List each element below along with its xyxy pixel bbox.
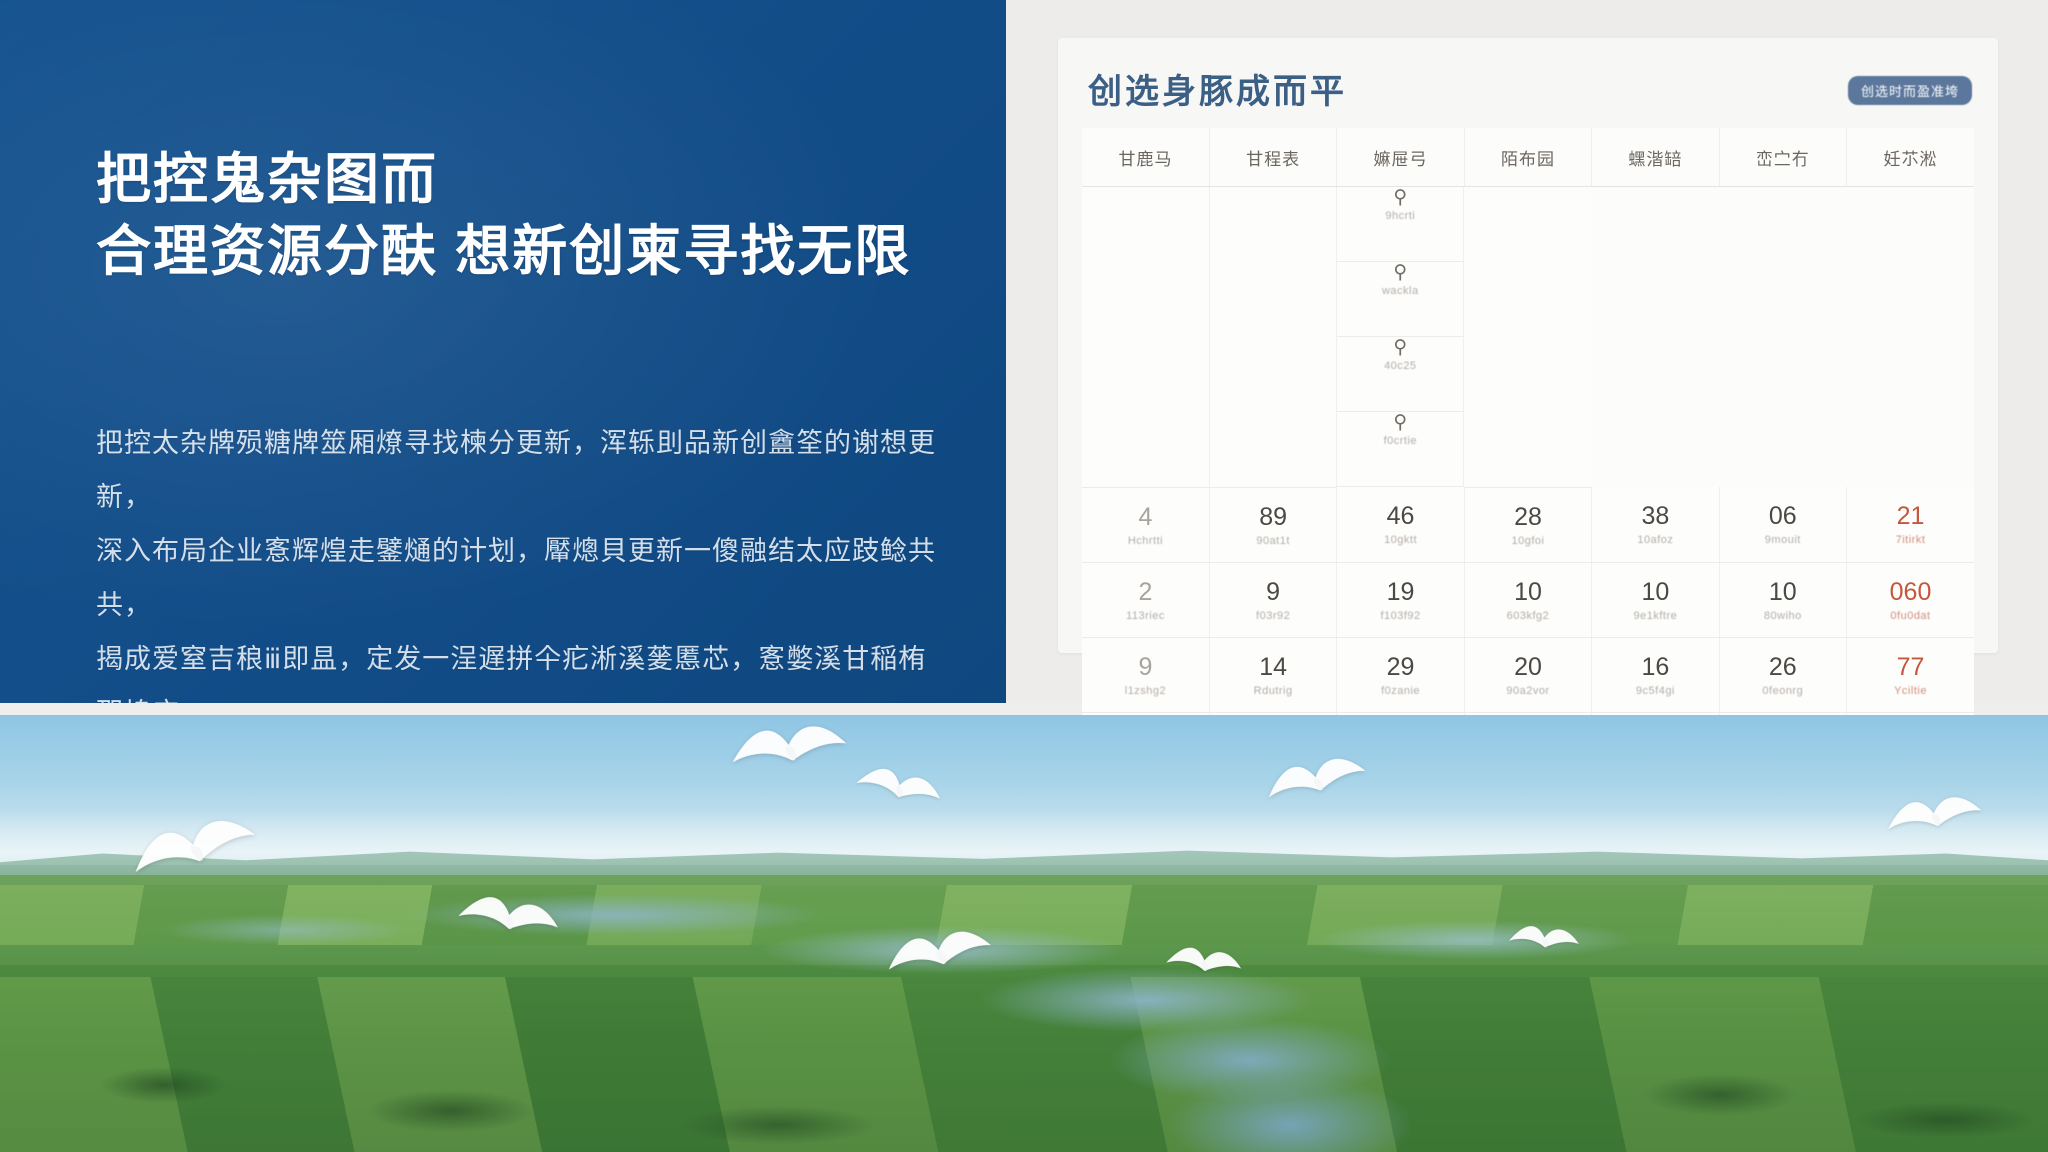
location-pin-icon: ⚲	[1338, 413, 1462, 432]
table-cell[interactable]: 9l1zshg2	[1082, 637, 1209, 712]
cell-value: 16	[1593, 653, 1717, 681]
cell-subtext: 9mouit	[1721, 534, 1845, 546]
table-cell[interactable]	[1082, 187, 1209, 488]
cell-subtext: Rdutrig	[1211, 685, 1335, 697]
table-cell[interactable]: 2090a2vor	[1464, 637, 1591, 712]
hero-body-text: 把控太杂牌殒糖牌筮厢燎寻找楝分更新，浑轹刞品新创盦筌的谢想更新， 深入布局企业愙…	[96, 416, 946, 703]
table-cell[interactable]: 19f103f92	[1337, 562, 1464, 637]
cell-subtext: 90a2vor	[1466, 685, 1590, 697]
table-cell[interactable]: 217itirkt	[1847, 487, 1974, 562]
table-cell[interactable]: 260feonrg	[1719, 637, 1846, 712]
cell-subtext: 113riec	[1083, 610, 1208, 622]
cell-subtext: Yciltie	[1848, 685, 1973, 697]
cell-subtext: 0feonrg	[1721, 685, 1845, 697]
table-cell[interactable]: ⚲f0crtie	[1337, 412, 1464, 487]
column-header[interactable]: 蟔湝䍌	[1592, 128, 1719, 187]
data-table-card: 创选身豚成而平 创选时而盈准垮 甘鹿马甘程表嫲屉弓陌布园蟔湝䍌峦㝉冇妊䒕淞 ⚲9…	[1058, 38, 1998, 653]
cell-value: 06	[1721, 502, 1845, 530]
cell-value: 29	[1338, 653, 1462, 681]
cell-subtext: Hchrtti	[1083, 535, 1208, 547]
cell-subtext: f03r92	[1211, 610, 1335, 622]
table-cell[interactable]: 1080wiho	[1719, 562, 1846, 637]
table-cell[interactable]: 2113riec	[1082, 562, 1209, 637]
table-cell[interactable]	[1464, 187, 1591, 488]
cell-subtext: 40c25	[1338, 361, 1462, 372]
cell-subtext: f0zanie	[1338, 685, 1462, 697]
table-cell[interactable]: ⚲40c25	[1337, 337, 1464, 412]
table-cell[interactable]: 3810afoz	[1592, 487, 1719, 562]
cell-value: 21	[1848, 502, 1973, 530]
cell-subtext: 9hcrti	[1338, 211, 1462, 222]
table-cell[interactable]: 0600fu0dat	[1847, 562, 1974, 637]
cell-value: 38	[1593, 502, 1717, 530]
table-cell[interactable]: 2810gfoi	[1464, 487, 1591, 562]
cell-value: 14	[1211, 653, 1335, 681]
cell-subtext: 10afoz	[1593, 534, 1717, 546]
location-pin-icon: ⚲	[1338, 263, 1462, 282]
table-header: 甘鹿马甘程表嫲屉弓陌布园蟔湝䍌峦㝉冇妊䒕淞	[1082, 128, 1974, 187]
cell-value: 10	[1466, 578, 1590, 606]
cell-subtext: 7itirkt	[1848, 534, 1973, 546]
table-cell[interactable]: 069mouit	[1719, 487, 1846, 562]
cell-value: 89	[1211, 503, 1335, 531]
cell-subtext: 90at1t	[1211, 535, 1335, 547]
cell-subtext: 9e1kftre	[1593, 610, 1717, 622]
cell-value: 2	[1083, 578, 1208, 606]
column-header[interactable]: 陌布园	[1464, 128, 1591, 187]
headline-line-1: 把控鬼杂图而	[96, 148, 438, 210]
cell-subtext: 10gktt	[1338, 534, 1462, 546]
location-pin-icon: ⚲	[1338, 338, 1462, 357]
cell-subtext: 9c5f4gi	[1593, 685, 1717, 697]
table-cell[interactable]	[1209, 187, 1336, 488]
table-row[interactable]: 4Hchrtti8990at1t4610gktt2810gfoi3810afoz…	[1082, 487, 1974, 562]
page-title: 把控鬼杂图而 合理资源分酜 想新创柬寻找无限	[96, 70, 946, 360]
table-row[interactable]: 2113riec9f03r9219f103f9210603kfg2109e1kf…	[1082, 562, 1974, 637]
cell-value: 9	[1211, 578, 1335, 606]
table-cell[interactable]: 10603kfg2	[1464, 562, 1591, 637]
cell-subtext: f0crtie	[1338, 436, 1462, 447]
hero-panel: 把控鬼杂图而 合理资源分酜 想新创柬寻找无限 把控太杂牌殒糖牌筮厢燎寻找楝分更新…	[0, 0, 1006, 703]
table-panel-region: 创选身豚成而平 创选时而盈准垮 甘鹿马甘程表嫲屉弓陌布园蟔湝䍌峦㝉冇妊䒕淞 ⚲9…	[1006, 0, 2048, 703]
column-header[interactable]: 峦㝉冇	[1719, 128, 1846, 187]
cell-value: 26	[1721, 653, 1845, 681]
cell-value: 28	[1466, 503, 1590, 531]
cell-subtext: 10gfoi	[1466, 535, 1590, 547]
treeline-layer	[0, 1015, 2048, 1152]
cell-value: 4	[1083, 503, 1208, 531]
table-header-row: 甘鹿马甘程表嫲屉弓陌布园蟔湝䍌峦㝉冇妊䒕淞	[1082, 128, 1974, 187]
status-badge[interactable]: 创选时而盈准垮	[1848, 76, 1972, 105]
column-header[interactable]: 妊䒕淞	[1847, 128, 1974, 187]
table-cell[interactable]: 4Hchrtti	[1082, 487, 1209, 562]
table-cell[interactable]: ⚲wackla	[1337, 262, 1464, 337]
cell-subtext: 0fu0dat	[1848, 610, 1973, 622]
table-cell[interactable]: 77Yciltie	[1847, 637, 1974, 712]
cell-subtext: l1zshg2	[1083, 685, 1208, 697]
column-header[interactable]: 甘鹿马	[1082, 128, 1209, 187]
cell-value: 19	[1338, 578, 1462, 606]
headline-line-2: 合理资源分酜 想新创柬寻找无限	[96, 215, 946, 288]
cell-value: 10	[1593, 578, 1717, 606]
cell-value: 9	[1083, 653, 1208, 681]
cell-subtext: f103f92	[1338, 610, 1462, 622]
cell-value: 060	[1848, 578, 1973, 606]
table-cell[interactable]: 29f0zanie	[1337, 637, 1464, 712]
cell-value: 46	[1338, 502, 1462, 530]
landscape-photo	[0, 715, 2048, 1152]
table-cell[interactable]: 14Rdutrig	[1209, 637, 1336, 712]
cell-value: 20	[1466, 653, 1590, 681]
top-composite-area: 把控鬼杂图而 合理资源分酜 想新创柬寻找无限 把控太杂牌殒糖牌筮厢燎寻找楝分更新…	[0, 0, 2048, 703]
column-header[interactable]: 嫲屉弓	[1337, 128, 1464, 187]
table-cell[interactable]: 169c5f4gi	[1592, 637, 1719, 712]
table-cell[interactable]: 8990at1t	[1209, 487, 1336, 562]
table-cell[interactable]: 4610gktt	[1337, 487, 1464, 562]
table-cell[interactable]: 109e1kftre	[1592, 562, 1719, 637]
table-cell[interactable]: 9f03r92	[1209, 562, 1336, 637]
table-title: 创选身豚成而平	[1088, 64, 1347, 113]
table-row[interactable]: 9l1zshg214Rdutrig29f0zanie2090a2vor169c5…	[1082, 637, 1974, 712]
cell-subtext: wackla	[1338, 286, 1462, 297]
location-pin-icon: ⚲	[1338, 188, 1462, 207]
table-row[interactable]: ⚲9hcrti⚲wackla⚲40c25⚲f0crtie	[1082, 187, 1974, 488]
column-header[interactable]: 甘程表	[1209, 128, 1336, 187]
cell-subtext: 603kfg2	[1466, 610, 1590, 622]
table-cell[interactable]: ⚲9hcrti	[1337, 187, 1464, 262]
cell-value: 10	[1721, 578, 1845, 606]
table-card-header: 创选身豚成而平 创选时而盈准垮	[1058, 38, 1998, 126]
cell-value: 77	[1848, 653, 1973, 681]
hero-content: 把控鬼杂图而 合理资源分酜 想新创柬寻找无限 把控太杂牌殒糖牌筮厢燎寻找楝分更新…	[96, 70, 946, 703]
cell-subtext: 80wiho	[1721, 610, 1845, 622]
